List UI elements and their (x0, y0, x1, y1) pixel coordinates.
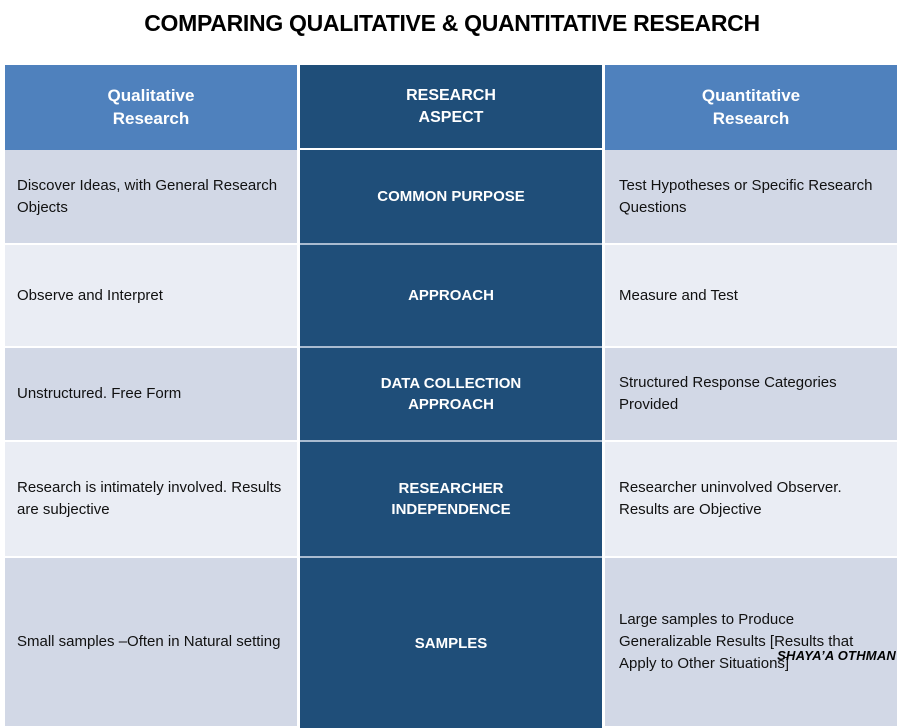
cell-qualitative-common-purpose: Discover Ideas, with General Research Ob… (5, 150, 300, 245)
aspect-label-line2: INDEPENDENCE (308, 499, 594, 520)
cell-aspect-data-collection: DATA COLLECTION APPROACH (300, 348, 602, 442)
cell-aspect-approach: APPROACH (300, 245, 602, 348)
table-row: Small samples –Often in Natural setting … (5, 558, 897, 728)
aspect-label-line1: SAMPLES (308, 633, 594, 654)
cell-aspect-samples: SAMPLES (300, 558, 602, 728)
column-header-qualitative: Qualitative Research (5, 65, 300, 150)
cell-qualitative-samples: Small samples –Often in Natural setting (5, 558, 300, 728)
cell-quantitative-approach: Measure and Test (602, 245, 897, 348)
aspect-label-line1: RESEARCHER (308, 478, 594, 499)
column-header-quantitative-line2: Research (613, 108, 889, 130)
cell-aspect-researcher-independence: RESEARCHER INDEPENDENCE (300, 442, 602, 558)
cell-qualitative-approach: Observe and Interpret (5, 245, 300, 348)
comparison-table: Qualitative Research RESEARCH ASPECT Qua… (5, 65, 897, 728)
column-header-quantitative: Quantitative Research (602, 65, 897, 150)
column-header-research-aspect: RESEARCH ASPECT (300, 65, 602, 150)
column-header-qualitative-line1: Qualitative (13, 85, 289, 107)
cell-quantitative-data-collection: Structured Response Categories Provided (602, 348, 897, 442)
cell-aspect-common-purpose: COMMON PURPOSE (300, 150, 602, 245)
aspect-label-line2: APPROACH (308, 394, 594, 415)
cell-qualitative-data-collection: Unstructured. Free Form (5, 348, 300, 442)
aspect-label-line1: APPROACH (308, 285, 594, 306)
aspect-label-line1: COMMON PURPOSE (308, 186, 594, 207)
cell-quantitative-common-purpose: Test Hypotheses or Specific Research Que… (602, 150, 897, 245)
cell-quantitative-samples: Large samples to Produce Generalizable R… (602, 558, 897, 728)
table-row: Observe and Interpret APPROACH Measure a… (5, 245, 897, 348)
table-row: Discover Ideas, with General Research Ob… (5, 150, 897, 245)
column-header-quantitative-line1: Quantitative (613, 85, 889, 107)
author-signature: SHAYA’A OTHMAN (777, 648, 896, 663)
table-row: Unstructured. Free Form DATA COLLECTION … (5, 348, 897, 442)
column-header-aspect-line1: RESEARCH (308, 85, 594, 107)
column-header-qualitative-line2: Research (13, 108, 289, 130)
table-row: Research is intimately involved. Results… (5, 442, 897, 558)
cell-qualitative-researcher-independence: Research is intimately involved. Results… (5, 442, 300, 558)
column-header-aspect-line2: ASPECT (308, 107, 594, 129)
page-title: COMPARING QUALITATIVE & QUANTITATIVE RES… (0, 10, 904, 37)
table-header-row: Qualitative Research RESEARCH ASPECT Qua… (5, 65, 897, 150)
aspect-label-line1: DATA COLLECTION (308, 373, 594, 394)
cell-quantitative-researcher-independence: Researcher uninvolved Observer. Results … (602, 442, 897, 558)
